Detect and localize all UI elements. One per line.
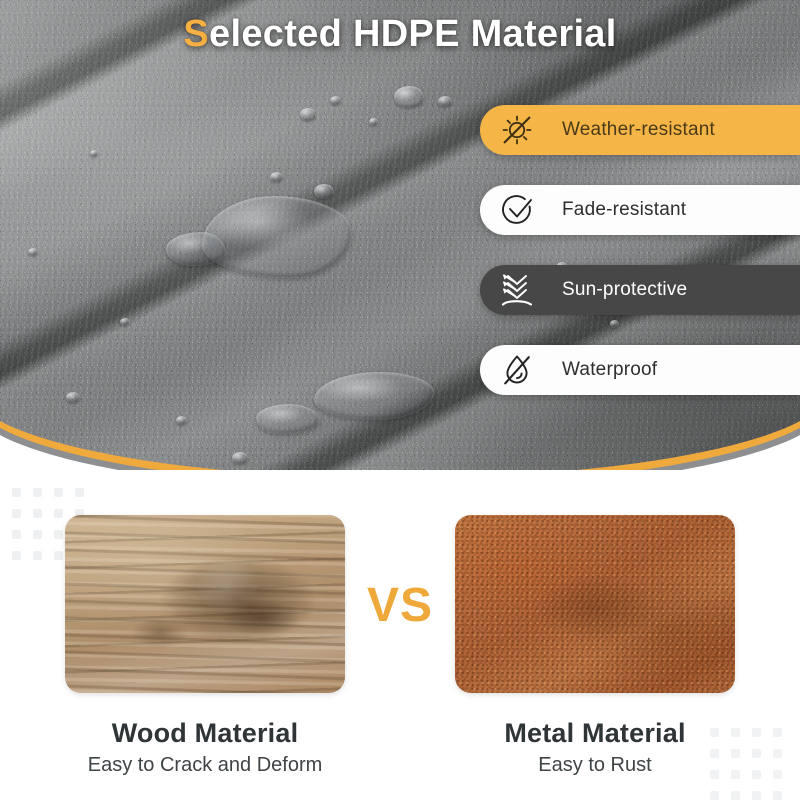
infographic-page: Selected HDPE Material [0,0,800,800]
caption-wood: Wood Material Easy to Crack and Deform [55,718,355,777]
caption-subtitle: Easy to Rust [445,754,745,777]
wood-texture-image [65,515,345,693]
feature-pill-sun-protective[interactable]: Sun-protective [480,265,800,315]
metal-texture-image [455,515,735,693]
feature-pill-fade-resistant[interactable]: Fade-resistant [480,185,800,235]
sun-slash-icon [494,110,540,150]
caption-title: Metal Material [445,718,745,749]
title-rest: elected HDPE Material [209,13,617,55]
circle-check-icon [494,190,540,230]
page-title: Selected HDPE Material [0,13,800,56]
feature-pill-label: Fade-resistant [562,199,686,221]
caption-subtitle: Easy to Crack and Deform [55,754,355,777]
caption-title: Wood Material [55,718,355,749]
vs-label: VS [350,578,450,633]
comparison-card-wood[interactable] [65,515,345,693]
hero-section: Selected HDPE Material [0,0,800,492]
uv-deflect-icon [494,270,540,310]
feature-pill-label: Waterproof [562,359,657,381]
feature-pill-list: Weather-resistant Fade-resistant [480,105,800,425]
feature-pill-label: Weather-resistant [562,119,715,141]
title-initial: S [183,13,209,55]
water-drop-slash-icon [494,350,540,390]
dot-grid-right [710,728,782,800]
feature-pill-waterproof[interactable]: Waterproof [480,345,800,395]
feature-pill-weather-resistant[interactable]: Weather-resistant [480,105,800,155]
caption-metal: Metal Material Easy to Rust [445,718,745,777]
feature-pill-label: Sun-protective [562,279,687,301]
comparison-card-metal[interactable] [455,515,735,693]
